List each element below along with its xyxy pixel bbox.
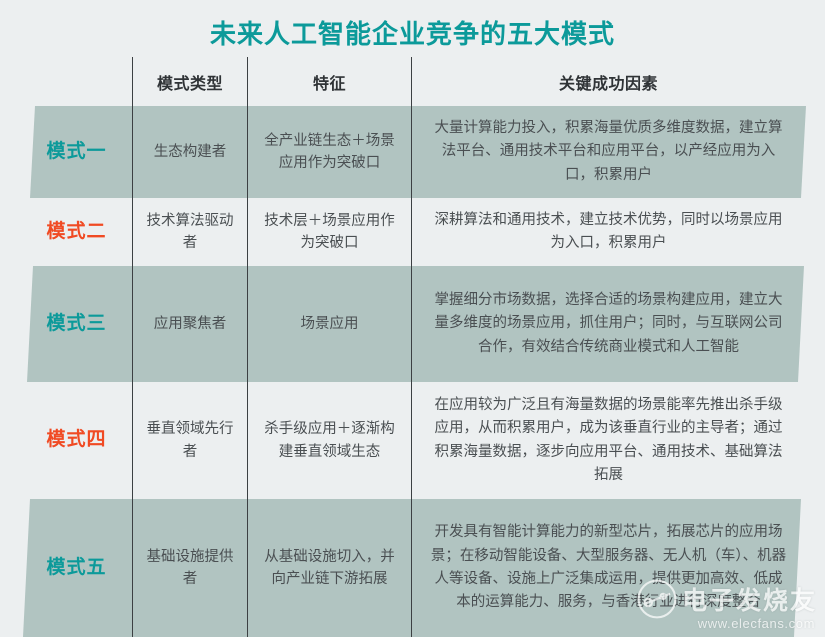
mode-label: 模式一: [46, 139, 106, 166]
row-mode-cell: 模式二: [20, 198, 133, 266]
row-feature-cell: 全产业链生态＋场景应用作为突破口: [248, 106, 411, 198]
mode-label: 模式四: [46, 427, 106, 454]
row-mode-cell: 模式三: [20, 266, 133, 382]
row-mode-cell: 模式四: [20, 382, 133, 499]
row-feature-cell: 从基础设施切入，并向产业链下游拓展: [248, 499, 411, 637]
row-factors-cell: 大量计算能力投入，积累海量优质多维度数据，建立算法平台、通用技术平台和应用平台，…: [412, 106, 805, 198]
row-type-cell: 基础设施提供者: [133, 499, 247, 637]
slide-canvas: 未来人工智能企业竞争的五大模式 模式类型 特征 关键成功因素 模式一 生态构建者…: [0, 0, 825, 637]
page-title: 未来人工智能企业竞争的五大模式: [0, 14, 825, 51]
column-divider-3: [411, 57, 412, 637]
row-feature-cell: 场景应用: [248, 266, 411, 382]
row-factors-cell: 开发具有智能计算能力的新型芯片，拓展芯片的应用场景；在移动智能设备、大型服务器、…: [412, 499, 805, 637]
row-mode-cell: 模式五: [20, 499, 133, 637]
row-type-cell: 技术算法驱动者: [133, 198, 247, 266]
table-row: 模式二 技术算法驱动者 技术层＋场景应用作为突破口 深耕算法和通用技术，建立技术…: [0, 198, 825, 266]
row-feature-cell: 杀手级应用＋逐渐构建垂直领域生态: [248, 382, 411, 499]
table-row: 模式三 应用聚焦者 场景应用 掌握细分市场数据，选择合适的场景构建应用，建立大量…: [0, 266, 825, 382]
row-feature-cell: 技术层＋场景应用作为突破口: [248, 198, 411, 266]
column-divider-2: [247, 57, 248, 637]
header-feature: 特征: [248, 57, 411, 106]
row-factors-cell: 深耕算法和通用技术，建立技术优势，同时以场景应用为入口，积累用户: [412, 198, 805, 266]
mode-label: 模式三: [46, 311, 106, 338]
mode-label: 模式二: [46, 219, 106, 246]
mode-label: 模式五: [46, 555, 106, 582]
row-type-cell: 生态构建者: [133, 106, 247, 198]
row-type-cell: 垂直领域先行者: [133, 382, 247, 499]
row-type-cell: 应用聚焦者: [133, 266, 247, 382]
table-row: 模式四 垂直领域先行者 杀手级应用＋逐渐构建垂直领域生态 在应用较为广泛且有海量…: [0, 382, 825, 499]
table-row: 模式一 生态构建者 全产业链生态＋场景应用作为突破口 大量计算能力投入，积累海量…: [0, 106, 825, 198]
row-mode-cell: 模式一: [20, 106, 133, 198]
row-factors-cell: 掌握细分市场数据，选择合适的场景构建应用，建立大量多维度的场景应用，抓住用户；同…: [412, 266, 805, 382]
header-mode-type: 模式类型: [133, 57, 247, 106]
table-header-row: 模式类型 特征 关键成功因素: [0, 57, 825, 106]
column-divider-1: [132, 57, 133, 637]
row-factors-cell: 在应用较为广泛且有海量数据的场景能率先推出杀手级应用，从而积累用户，成为该垂直行…: [412, 382, 805, 499]
header-key-success-factors: 关键成功因素: [412, 57, 805, 106]
table-row: 模式五 基础设施提供者 从基础设施切入，并向产业链下游拓展 开发具有智能计算能力…: [0, 499, 825, 637]
